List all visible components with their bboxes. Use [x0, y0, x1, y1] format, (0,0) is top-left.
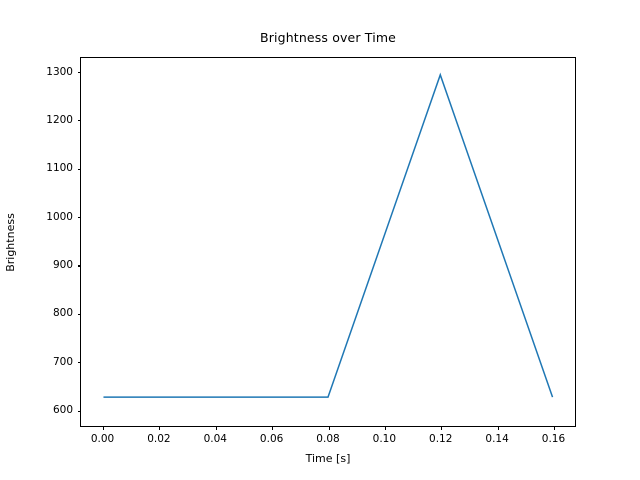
x-tick-label: 0.12 [429, 433, 452, 445]
x-tick-label: 0.00 [91, 433, 114, 445]
x-tick-label: 0.08 [316, 433, 339, 445]
y-tick-mark [78, 169, 82, 170]
x-tick-mark [272, 426, 273, 430]
y-tick-label: 600 [0, 404, 73, 416]
x-tick-label: 0.02 [147, 433, 170, 445]
chart-title: Brightness over Time [80, 30, 576, 45]
y-axis-label: Brightness [0, 57, 20, 427]
y-tick-mark [78, 217, 82, 218]
x-tick-mark [385, 426, 386, 430]
line-series-brightness [103, 75, 552, 397]
plot-area [80, 57, 576, 427]
x-tick-mark [103, 426, 104, 430]
x-tick-mark [216, 426, 217, 430]
y-tick-mark [78, 120, 82, 121]
y-tick-mark [78, 362, 82, 363]
y-tick-label: 1100 [0, 162, 73, 174]
x-axis-label: Time [s] [80, 452, 576, 465]
y-tick-label: 1000 [0, 211, 73, 223]
x-tick-mark [554, 426, 555, 430]
y-tick-label: 800 [0, 307, 73, 319]
x-tick-label: 0.06 [260, 433, 283, 445]
data-series-svg [81, 58, 575, 426]
y-tick-mark [78, 314, 82, 315]
x-tick-mark [441, 426, 442, 430]
y-tick-mark [78, 72, 82, 73]
chart-figure: Brightness over Time Brightness Time [s]… [0, 0, 640, 480]
x-tick-mark [159, 426, 160, 430]
y-tick-label: 900 [0, 259, 73, 271]
x-tick-label: 0.04 [204, 433, 227, 445]
x-tick-label: 0.14 [485, 433, 508, 445]
y-tick-label: 700 [0, 356, 73, 368]
x-tick-label: 0.10 [373, 433, 396, 445]
y-tick-label: 1300 [0, 66, 73, 78]
y-tick-mark [78, 265, 82, 266]
x-tick-mark [498, 426, 499, 430]
x-tick-label: 0.16 [542, 433, 565, 445]
x-tick-mark [329, 426, 330, 430]
y-tick-mark [78, 411, 82, 412]
y-tick-label: 1200 [0, 114, 73, 126]
